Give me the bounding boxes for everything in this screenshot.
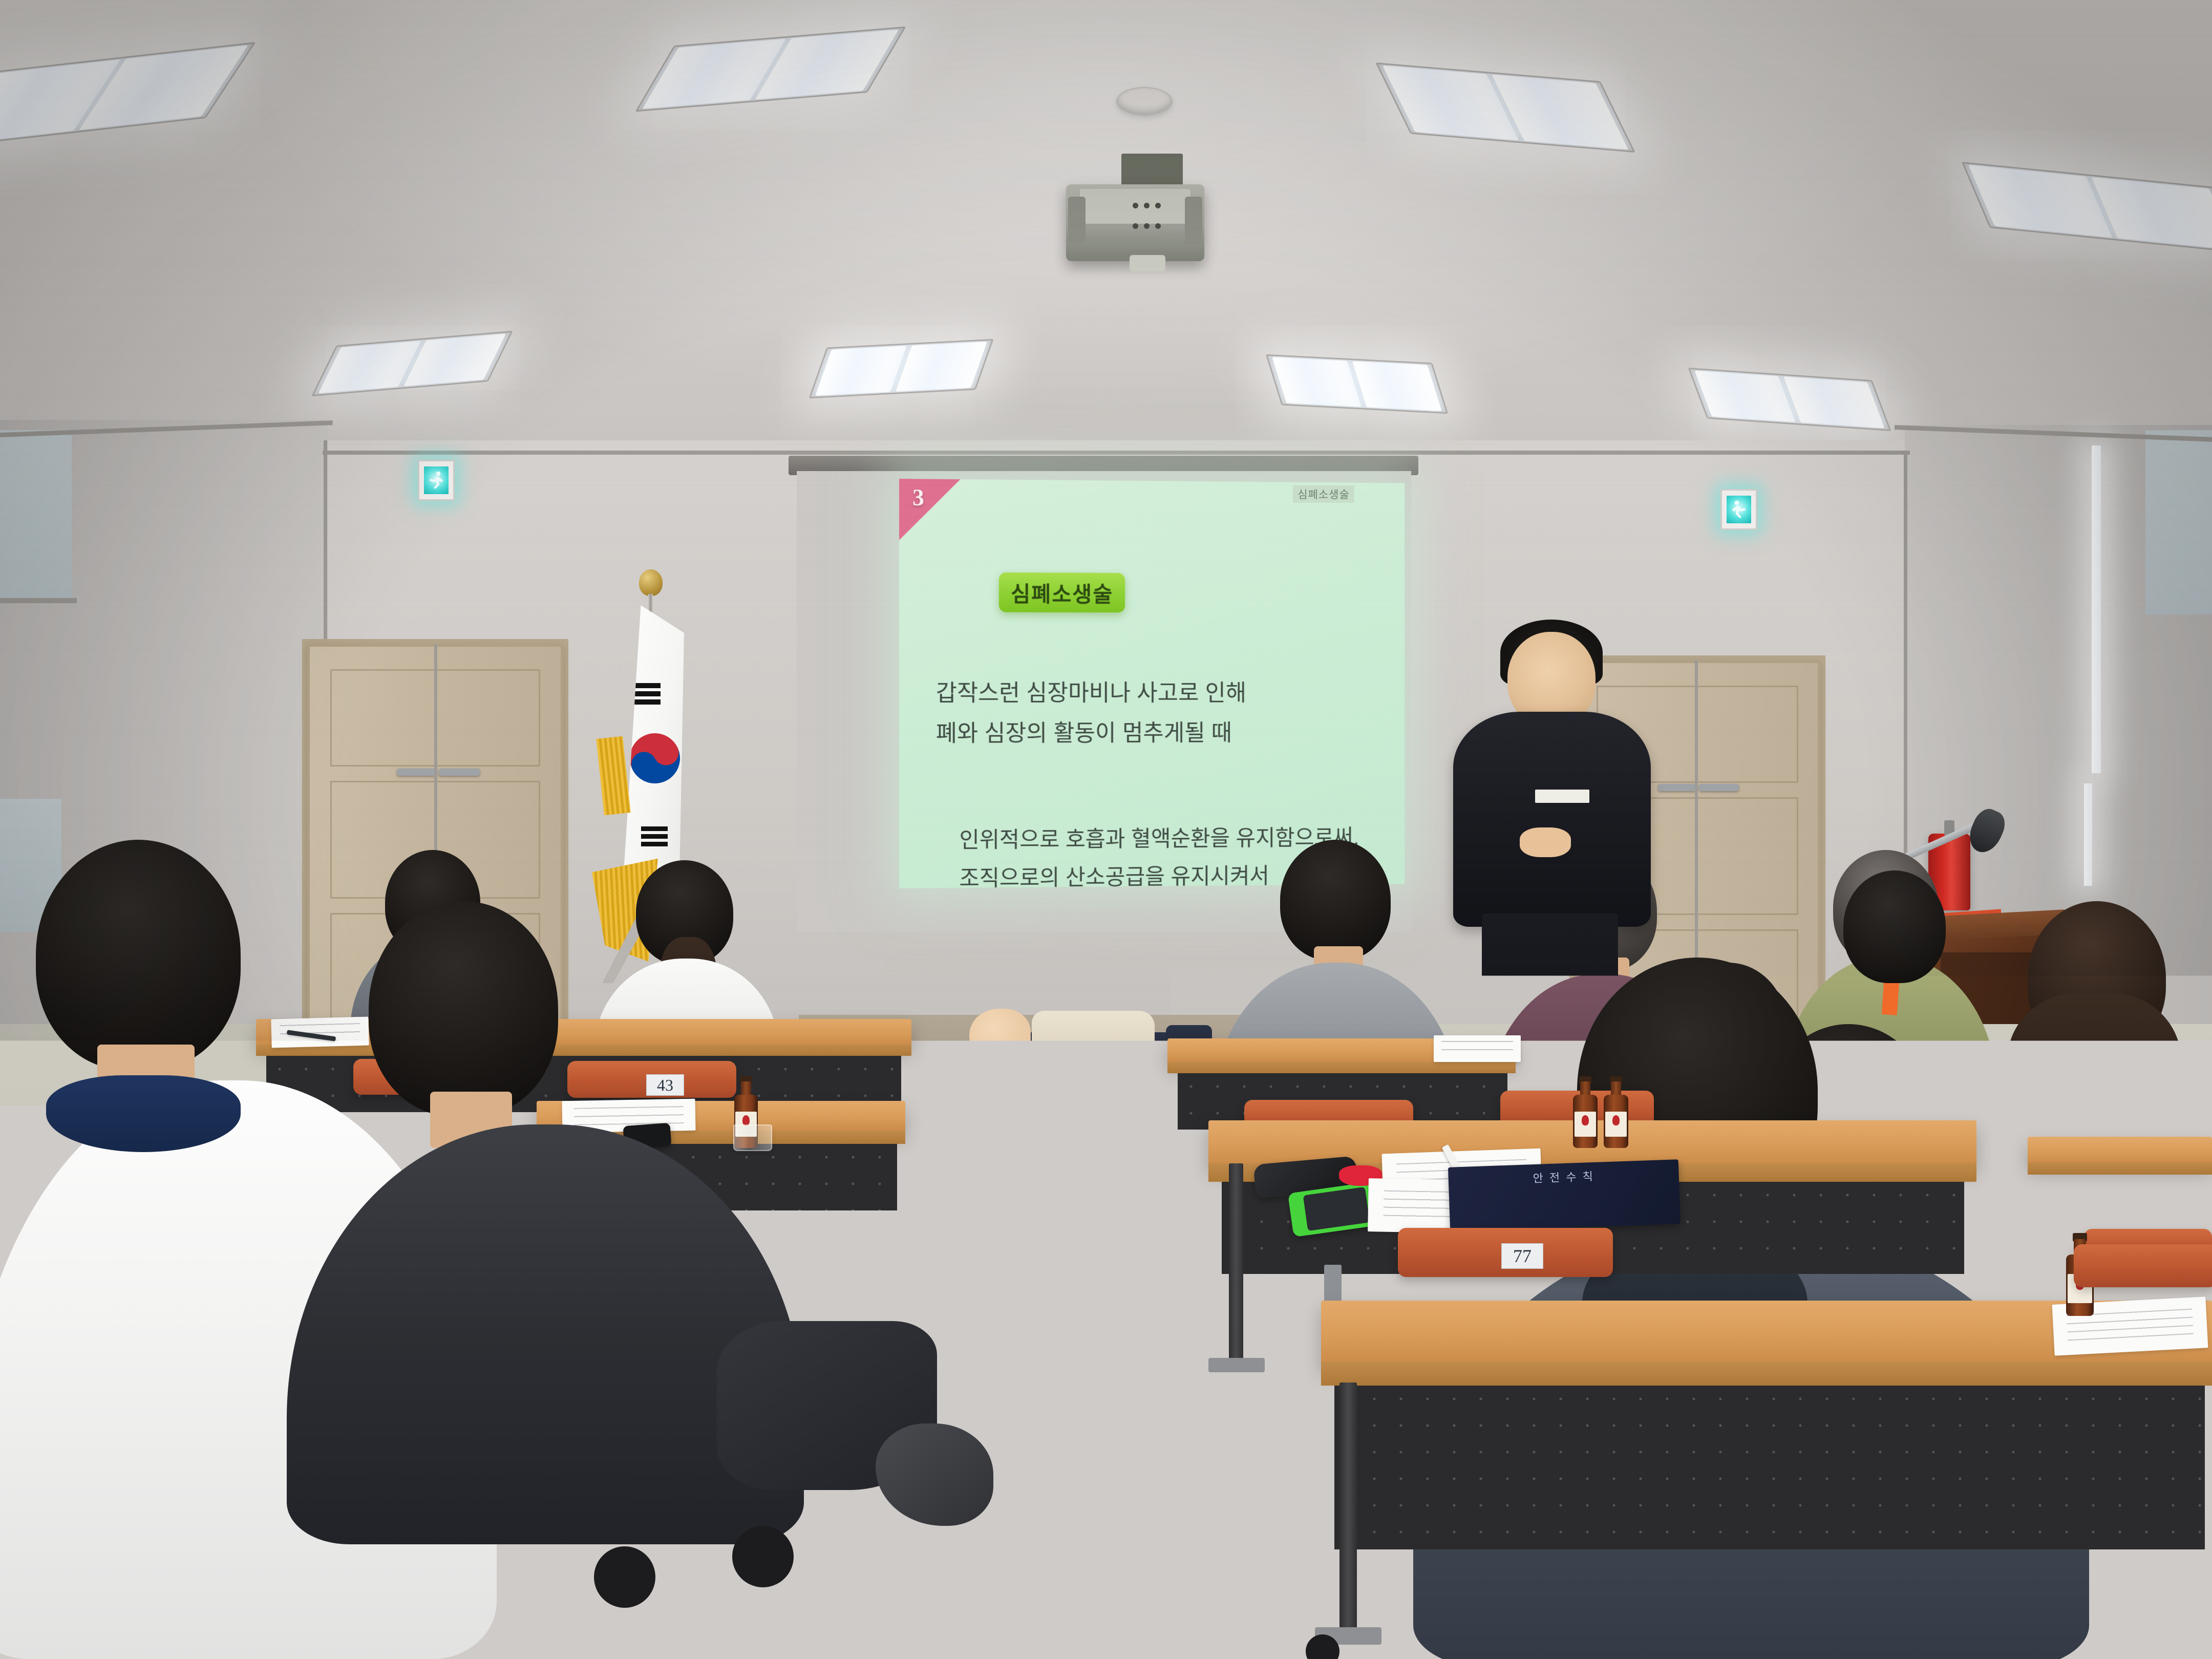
chair-back-foreground-right[interactable] [2074,1244,2212,1287]
audience-head [369,901,558,1116]
exit-sign-right [1720,489,1757,530]
audience-head [1280,840,1391,961]
ceiling-light-fixture [1266,354,1449,414]
slide-number: 3 [912,484,924,511]
audience-member-mid-left-pale [599,911,814,1178]
desk-edge [1321,1362,2212,1386]
fluorescent-tube [815,346,906,395]
bottle-label [1575,1112,1597,1137]
left-wall-panel [0,430,72,599]
slide-corner-accent [899,479,961,541]
document-folder[interactable]: 안 전 수 칙 [1448,1159,1681,1232]
slide-body-line-1: 갑작스런 심장마비나 사고로 인해 폐와 심장의 활동이 멈추게될 때 [936,673,1376,754]
fluorescent-tube [1783,376,1884,428]
flag-trigram-geon [632,683,661,708]
flag-finial [639,569,663,596]
presenter-jacket [1453,712,1651,927]
daylight-gap [2092,445,2101,773]
desk-foot [1208,1358,1265,1372]
manikin-head [969,1009,1031,1064]
fluorescent-tube [896,342,987,391]
right-wall-panel [2145,430,2212,614]
beverage-bottle-2[interactable] [1602,1081,1630,1148]
projector-lens [1130,255,1165,271]
wall-sign-label: 심폐소생술 [1293,485,1354,503]
chair-number-tag: 77 [1501,1243,1543,1269]
fluorescent-tube [1694,371,1795,422]
desk-leg [1339,1382,1357,1639]
exit-sign-running-man-icon [1727,496,1752,524]
exit-sign-running-man-icon [424,466,449,495]
fluorescent-tube [1352,361,1442,411]
ceiling-projector [1066,184,1204,261]
desk-leg [1229,1163,1243,1368]
left-wall-trim [0,598,77,603]
slide-title-text: 심폐소생술 [1011,577,1113,608]
sock-foot [876,1423,993,1526]
exit-sign-left [418,460,455,501]
door-handle[interactable] [1699,784,1739,791]
desk-edge [2028,1162,2212,1175]
smoke-detector-icon [1116,87,1173,116]
presenter-name-badge [1535,790,1589,803]
bottle-label [1605,1112,1627,1137]
audience-head [36,840,241,1070]
ceiling-wall-junction-center [323,451,1910,455]
desk-modesty-panel [1334,1386,2205,1549]
presenter [1444,614,1659,1050]
door-handle[interactable] [1658,784,1697,791]
fluorescent-tube [1968,165,2112,238]
desk-far-right [2028,1137,2212,1165]
manikin-torso [1032,1011,1155,1061]
beverage-bottle[interactable] [1571,1081,1600,1148]
door-handle[interactable] [439,769,480,776]
chair-caster [594,1546,655,1608]
flag-trigram-gon [641,826,668,849]
fluorescent-tube [2092,177,2212,250]
presenter-hand [1520,827,1571,857]
folder-label: 안 전 수 칙 [1533,1167,1594,1186]
daylight-gap-lower [2084,783,2092,886]
lecture-room-photo: 3 심폐소생술 갑작스런 심장마비나 사고로 인해 폐와 심장의 활동이 멈추게… [0,0,2212,1659]
collar [46,1075,241,1152]
chair-caster [732,1526,794,1587]
slide-title-badge: 심폐소생술 [999,572,1125,612]
desk-edge [1167,1062,1516,1073]
ceiling-light-fixture [809,339,993,399]
door-handle[interactable] [397,769,437,776]
presenter-trousers [1482,913,1618,1057]
projected-slide: 3 심폐소생술 갑작스런 심장마비나 사고로 인해 폐와 심장의 활동이 멈추게… [899,479,1405,888]
fluorescent-tube [1272,357,1362,407]
